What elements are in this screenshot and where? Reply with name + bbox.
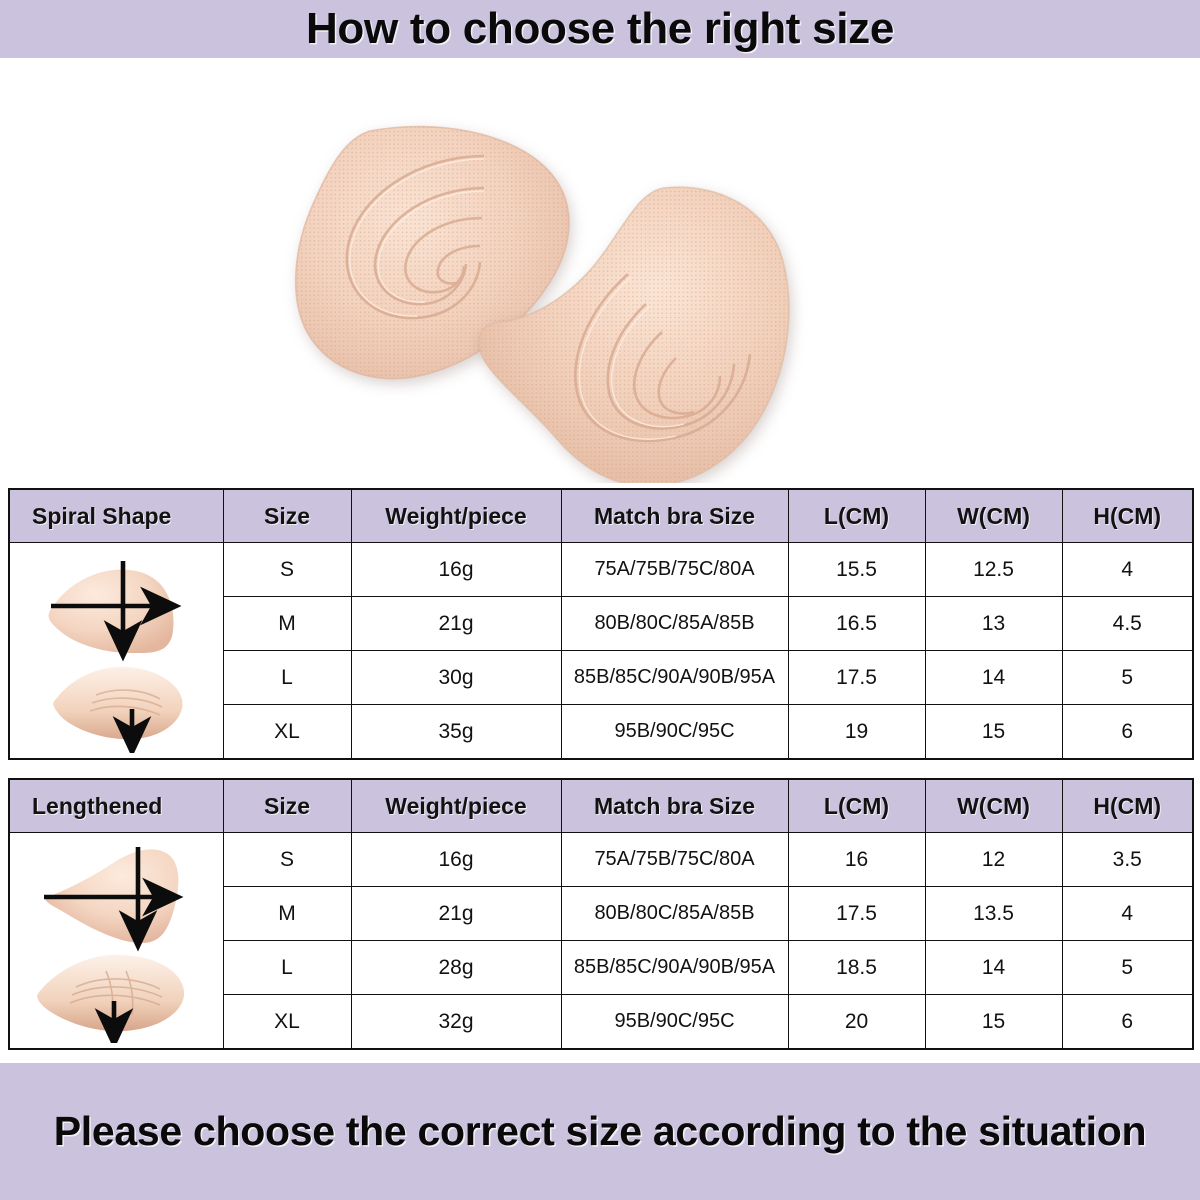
cell-height: 4 <box>1062 543 1193 597</box>
spiral-measurement-diagram <box>10 549 222 753</box>
column-header-size: Size <box>223 779 351 833</box>
cell-weight: 30g <box>351 651 561 705</box>
column-header-length: L(CM) <box>788 779 925 833</box>
column-header-length: L(CM) <box>788 489 925 543</box>
page-title: How to choose the right size <box>306 4 894 54</box>
cell-weight: 21g <box>351 597 561 651</box>
cell-bra: 75A/75B/75C/80A <box>561 543 788 597</box>
cell-length: 17.5 <box>788 887 925 941</box>
cell-size: L <box>223 651 351 705</box>
shape-diagram-lengthened <box>9 833 223 1050</box>
cell-size: XL <box>223 995 351 1050</box>
cell-bra: 85B/85C/90A/90B/95A <box>561 941 788 995</box>
cell-bra: 80B/80C/85A/85B <box>561 597 788 651</box>
cell-length: 16 <box>788 833 925 887</box>
column-header-height: H(CM) <box>1062 779 1193 833</box>
cell-width: 13 <box>925 597 1062 651</box>
size-table-spiral-shape: Spiral Shape Size Weight/piece Match bra… <box>8 488 1194 760</box>
cell-height: 5 <box>1062 941 1193 995</box>
column-header-bra: Match bra Size <box>561 489 788 543</box>
cell-width: 14 <box>925 651 1062 705</box>
product-image-lengthened-pad <box>468 182 798 483</box>
table-header-row: Lengthened Size Weight/piece Match bra S… <box>9 779 1193 833</box>
cell-width: 12.5 <box>925 543 1062 597</box>
page-header-banner: How to choose the right size <box>0 0 1200 58</box>
column-header-weight: Weight/piece <box>351 489 561 543</box>
cell-length: 18.5 <box>788 941 925 995</box>
cell-bra: 85B/85C/90A/90B/95A <box>561 651 788 705</box>
cell-size: S <box>223 543 351 597</box>
column-header-bra: Match bra Size <box>561 779 788 833</box>
cell-width: 14 <box>925 941 1062 995</box>
column-header-shape: Spiral Shape <box>9 489 223 543</box>
product-photo-area <box>0 58 1200 483</box>
cell-length: 15.5 <box>788 543 925 597</box>
cell-height: 6 <box>1062 705 1193 760</box>
cell-size: L <box>223 941 351 995</box>
cell-height: 4 <box>1062 887 1193 941</box>
column-header-width: W(CM) <box>925 489 1062 543</box>
size-table-lengthened: Lengthened Size Weight/piece Match bra S… <box>8 778 1194 1050</box>
cell-weight: 28g <box>351 941 561 995</box>
cell-weight: 21g <box>351 887 561 941</box>
cell-height: 3.5 <box>1062 833 1193 887</box>
cell-weight: 35g <box>351 705 561 760</box>
cell-width: 12 <box>925 833 1062 887</box>
cell-weight: 32g <box>351 995 561 1050</box>
cell-height: 6 <box>1062 995 1193 1050</box>
table-row: S 16g 75A/75B/75C/80A 15.5 12.5 4 <box>9 543 1193 597</box>
column-header-weight: Weight/piece <box>351 779 561 833</box>
cell-length: 17.5 <box>788 651 925 705</box>
cell-bra: 95B/90C/95C <box>561 995 788 1050</box>
cell-length: 19 <box>788 705 925 760</box>
cell-width: 15 <box>925 995 1062 1050</box>
cell-size: S <box>223 833 351 887</box>
cell-length: 20 <box>788 995 925 1050</box>
cell-size: M <box>223 887 351 941</box>
shape-diagram-spiral <box>9 543 223 760</box>
cell-bra: 80B/80C/85A/85B <box>561 887 788 941</box>
column-header-height: H(CM) <box>1062 489 1193 543</box>
cell-width: 15 <box>925 705 1062 760</box>
cell-bra: 95B/90C/95C <box>561 705 788 760</box>
cell-weight: 16g <box>351 833 561 887</box>
cell-weight: 16g <box>351 543 561 597</box>
cell-size: M <box>223 597 351 651</box>
cell-height: 5 <box>1062 651 1193 705</box>
table-header-row: Spiral Shape Size Weight/piece Match bra… <box>9 489 1193 543</box>
cell-width: 13.5 <box>925 887 1062 941</box>
column-header-width: W(CM) <box>925 779 1062 833</box>
table-row: S 16g 75A/75B/75C/80A 16 12 3.5 <box>9 833 1193 887</box>
column-header-size: Size <box>223 489 351 543</box>
cell-size: XL <box>223 705 351 760</box>
column-header-shape: Lengthened <box>9 779 223 833</box>
cell-height: 4.5 <box>1062 597 1193 651</box>
cell-bra: 75A/75B/75C/80A <box>561 833 788 887</box>
footer-note: Please choose the correct size according… <box>54 1108 1146 1155</box>
lengthened-measurement-diagram <box>10 839 222 1043</box>
page-footer-banner: Please choose the correct size according… <box>0 1063 1200 1200</box>
cell-length: 16.5 <box>788 597 925 651</box>
